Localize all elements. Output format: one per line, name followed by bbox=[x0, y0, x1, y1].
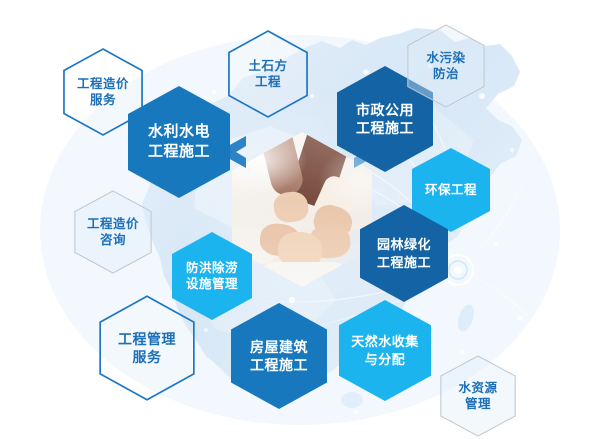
hexagon-label: 工程造价 服务 bbox=[73, 76, 133, 109]
hexagon-label: 防洪除涝 设施管理 bbox=[182, 260, 242, 293]
hexagon-shuili-shuidian[interactable]: 水利水电 工程施工 bbox=[128, 86, 230, 198]
hexagon-label: 天然水收集 与分配 bbox=[347, 333, 423, 367]
hexagon-label: 市政公用 工程施工 bbox=[352, 101, 418, 138]
hexagon-label: 水资源 管理 bbox=[454, 380, 501, 413]
hexagon-shuiziyuan-guanli[interactable]: 水资源 管理 bbox=[440, 355, 516, 437]
hexagon-tushifang-gongcheng[interactable]: 土石方 工程 bbox=[228, 30, 308, 118]
hexagon-label: 水污染 防治 bbox=[422, 50, 469, 83]
hexagon-label: 土石方 工程 bbox=[244, 58, 291, 91]
hexagon-label: 房屋建筑 工程施工 bbox=[246, 338, 312, 375]
hexagon-gongcheng-guanli-fuwu[interactable]: 工程管理 服务 bbox=[99, 295, 195, 401]
hexagon-label: 园林绿化 工程施工 bbox=[373, 236, 435, 270]
hexagon-yuanlin-lvhua[interactable]: 园林绿化 工程施工 bbox=[360, 205, 448, 302]
hexagon-label: 工程管理 服务 bbox=[114, 330, 180, 367]
infographic-canvas: 工程造价 服务土石方 工程水利水电 工程施工市政公用 工程施工水污染 防治环保工… bbox=[0, 0, 600, 439]
hexagon-label: 工程造价 咨询 bbox=[83, 216, 143, 249]
hexagon-tianranshui-shouji[interactable]: 天然水收集 与分配 bbox=[339, 300, 431, 401]
hexagon-label: 环保工程 bbox=[421, 182, 481, 199]
hexagon-shuiwuran-fangzhi[interactable]: 水污染 防治 bbox=[407, 24, 485, 108]
hexagon-fangwu-jianzhu[interactable]: 房屋建筑 工程施工 bbox=[231, 303, 327, 409]
hexagon-gongcheng-zaojia-zixun[interactable]: 工程造价 咨询 bbox=[74, 190, 152, 274]
hexagon-label: 水利水电 工程施工 bbox=[144, 122, 214, 162]
